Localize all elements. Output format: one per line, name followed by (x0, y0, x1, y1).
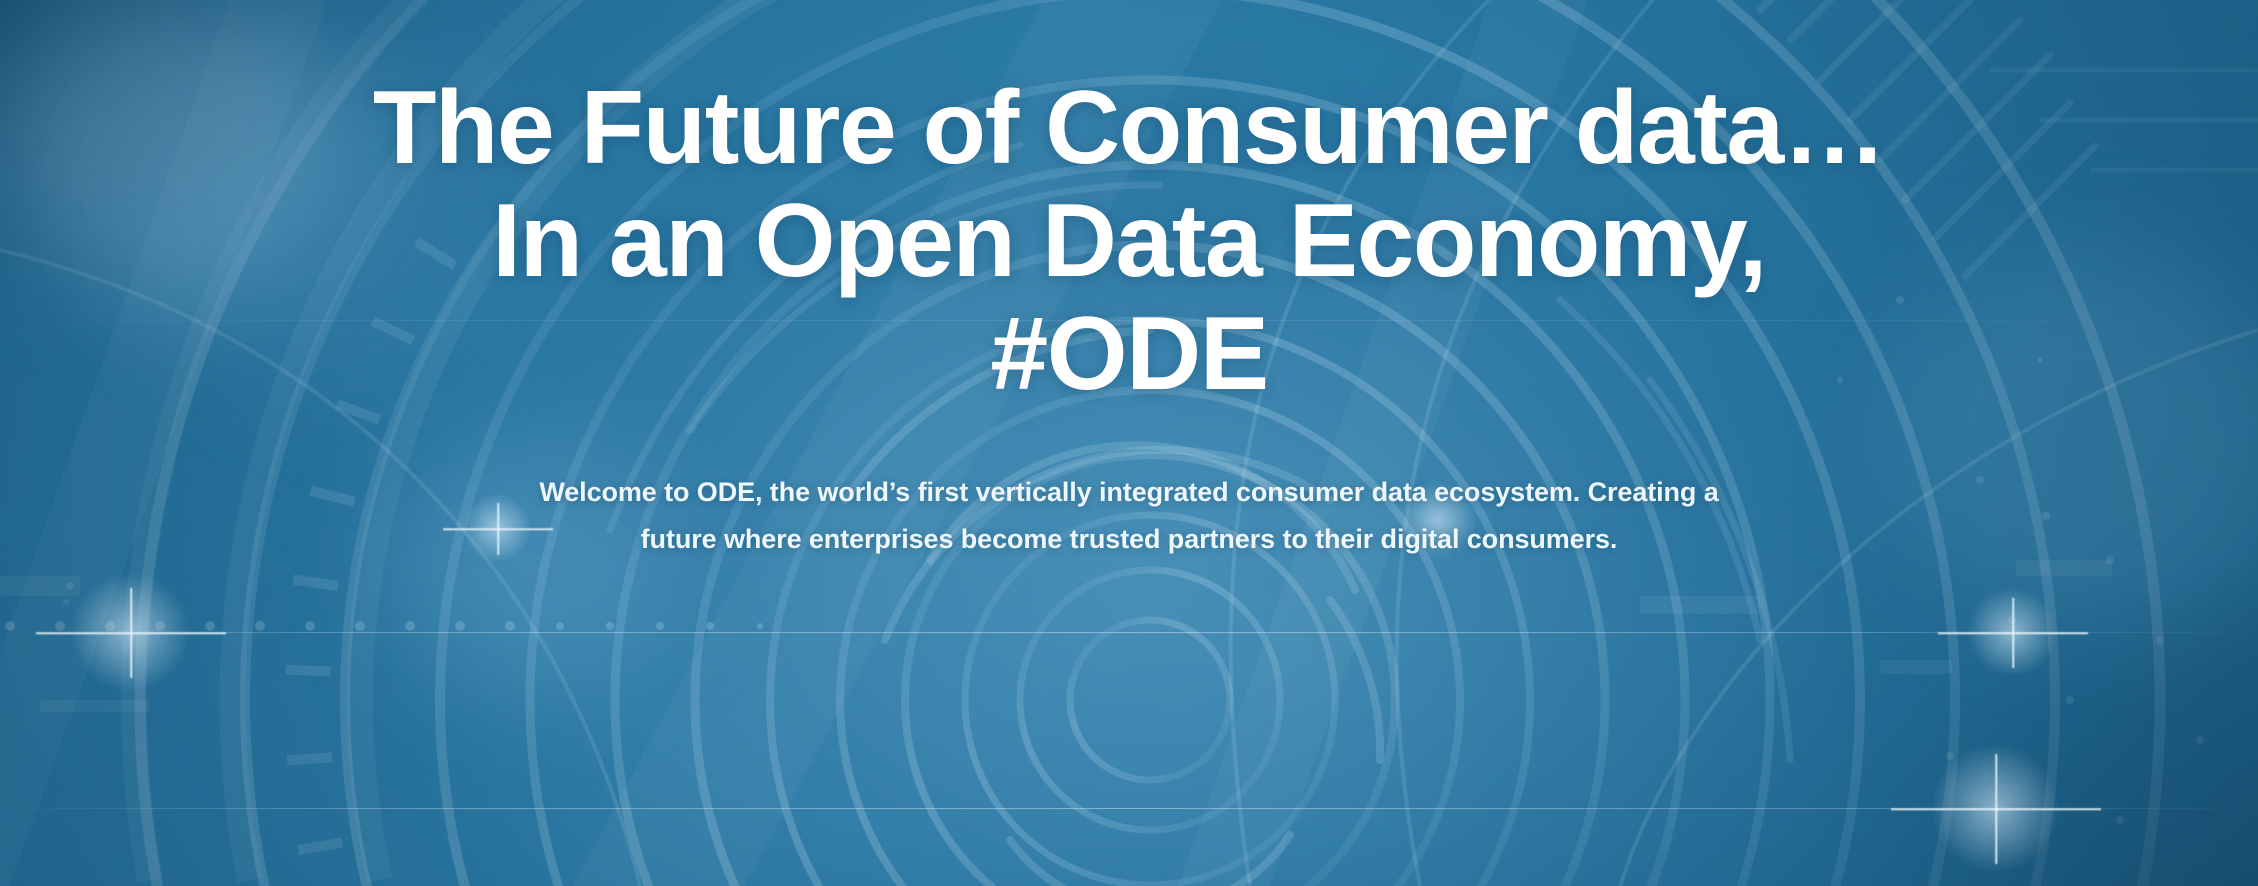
hero-headline-line-2: In an Open Data Economy, (34, 185, 2224, 298)
hero-subtitle: Welcome to ODE, the world’s first vertic… (504, 469, 1754, 563)
hero-headline-line-1: The Future of Consumer data… (34, 72, 2224, 185)
hero-banner: The Future of Consumer data… In an Open … (0, 0, 2258, 886)
hero-headline-line-3: #ODE (34, 298, 2224, 411)
hero-headline: The Future of Consumer data… In an Open … (34, 72, 2224, 411)
hero-subtitle-line-1: Welcome to ODE, the world’s first vertic… (539, 477, 1580, 507)
hero-subtitle-line-3: consumers. (1467, 524, 1618, 554)
hero-content: The Future of Consumer data… In an Open … (0, 0, 2258, 886)
